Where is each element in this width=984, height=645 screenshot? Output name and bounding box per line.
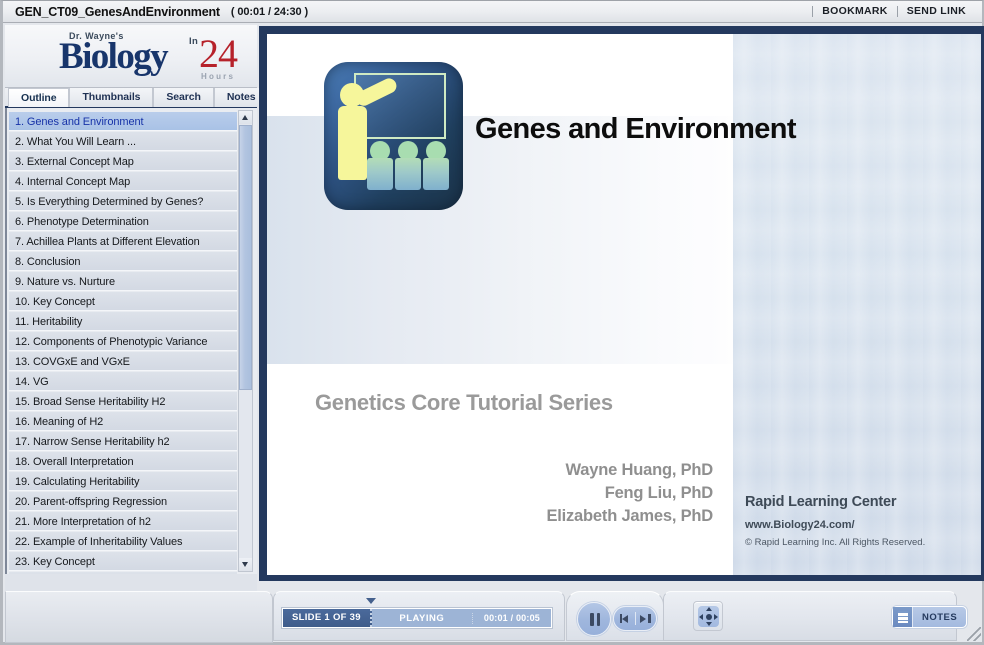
- status-panel: SLIDE 1 OF 39 PLAYING 00:01 / 00:05: [273, 591, 565, 641]
- teacher-head-shape: [340, 83, 364, 107]
- outline-item[interactable]: 9. Nature vs. Nurture: [9, 271, 237, 291]
- organization-block: Rapid Learning Center www.Biology24.com/…: [745, 494, 975, 548]
- outline-item[interactable]: 3. External Concept Map: [9, 151, 237, 171]
- logo-inner: Dr. Wayne's Biology In 24 Hours: [51, 27, 256, 87]
- outline-item[interactable]: 11. Heritability: [9, 311, 237, 331]
- playback-state: PLAYING: [372, 613, 473, 624]
- outline-item[interactable]: 6. Phenotype Determination: [9, 211, 237, 231]
- fullscreen-button[interactable]: [693, 601, 723, 631]
- sidebar-footer-panel: [5, 591, 273, 643]
- outline-item[interactable]: 1. Genes and Environment: [9, 111, 237, 131]
- fullscreen-icon: [698, 606, 719, 627]
- organization-url[interactable]: www.Biology24.com/: [745, 519, 975, 531]
- step-forward-icon[interactable]: [636, 612, 652, 625]
- slide-canvas[interactable]: Genes and Environment Genetics Core Tuto…: [267, 34, 981, 575]
- outline-item[interactable]: 23. Key Concept: [9, 551, 237, 571]
- transport-controls: [566, 591, 664, 641]
- outline-item[interactable]: 12. Components of Phenotypic Variance: [9, 331, 237, 351]
- outline-list: 1. Genes and Environment2. What You Will…: [9, 111, 237, 574]
- tab-thumbnails[interactable]: Thumbnails: [69, 88, 153, 107]
- logo-hours: Hours: [201, 72, 235, 81]
- teacher-body-shape: [338, 106, 367, 180]
- sidebar-tabs: Outline Thumbnails Search Notes: [5, 88, 257, 108]
- outline-scrollbar[interactable]: [238, 110, 253, 572]
- scrollbar-thumb[interactable]: [239, 125, 252, 390]
- copyright-text: © Rapid Learning Inc. All Rights Reserve…: [745, 537, 975, 548]
- author-line: Elizabeth James, PhD: [407, 505, 713, 528]
- author-line: Wayne Huang, PhD: [407, 459, 713, 482]
- pause-button[interactable]: [577, 602, 611, 636]
- teacher-at-blackboard-icon: [324, 62, 463, 210]
- notes-icon: [893, 607, 913, 627]
- page-title: GEN_CT09_GenesAndEnvironment: [15, 5, 220, 19]
- slide-counter: SLIDE 1 OF 39: [283, 609, 372, 627]
- window-title-bar: GEN_CT09_GenesAndEnvironment ( 00:01 / 2…: [3, 1, 982, 23]
- outline-item[interactable]: 18. Overall Interpretation: [9, 451, 237, 471]
- outline-item[interactable]: 15. Broad Sense Heritability H2: [9, 391, 237, 411]
- progress-bar[interactable]: SLIDE 1 OF 39 PLAYING 00:01 / 00:05: [282, 608, 552, 628]
- outline-item[interactable]: 2. What You Will Learn ...: [9, 131, 237, 151]
- slide-time: 00:01 / 00:05: [473, 613, 551, 623]
- student-body-3: [423, 158, 449, 190]
- send-link-button[interactable]: SEND LINK: [897, 6, 975, 17]
- logo-brand: Biology: [59, 38, 167, 76]
- resize-grip[interactable]: [967, 627, 981, 641]
- outline-item[interactable]: 8. Conclusion: [9, 251, 237, 271]
- outline-item[interactable]: 10. Key Concept: [9, 291, 237, 311]
- outline-item[interactable]: 22. Example of Inheritability Values: [9, 531, 237, 551]
- slide-viewport: Genes and Environment Genetics Core Tuto…: [259, 26, 984, 581]
- outline-item[interactable]: 21. More Interpretation of h2: [9, 511, 237, 531]
- outline-item[interactable]: 7. Achillea Plants at Different Elevatio…: [9, 231, 237, 251]
- author-line: Feng Liu, PhD: [407, 482, 713, 505]
- student-body-1: [367, 158, 393, 190]
- total-timecode: ( 00:01 / 24:30 ): [231, 6, 308, 18]
- logo-in: In: [189, 36, 198, 47]
- outline-item[interactable]: 4. Internal Concept Map: [9, 171, 237, 191]
- outline-item[interactable]: 20. Parent-offspring Regression: [9, 491, 237, 511]
- slide-series-subtitle: Genetics Core Tutorial Series: [315, 390, 613, 416]
- scroll-up-icon[interactable]: [239, 111, 252, 124]
- slide-authors: Wayne Huang, PhD Feng Liu, PhD Elizabeth…: [407, 459, 713, 528]
- sidebar: Dr. Wayne's Biology In 24 Hours Outline …: [5, 25, 257, 591]
- player-window: GEN_CT09_GenesAndEnvironment ( 00:01 / 2…: [0, 0, 984, 645]
- outline-item[interactable]: 17. Narrow Sense Heritability h2: [9, 431, 237, 451]
- tab-outline[interactable]: Outline: [8, 88, 69, 107]
- outline-item[interactable]: 24. Question: [9, 571, 237, 574]
- pause-icon: [589, 613, 601, 626]
- logo-number: 24: [199, 33, 237, 75]
- notes-button[interactable]: NOTES: [892, 606, 967, 628]
- organization-name: Rapid Learning Center: [745, 494, 975, 510]
- tab-search[interactable]: Search: [153, 88, 213, 107]
- outline-item[interactable]: 16. Meaning of H2: [9, 411, 237, 431]
- bookmark-button[interactable]: BOOKMARK: [812, 6, 896, 17]
- blackboard-shape: [354, 73, 446, 139]
- outline-item[interactable]: 14. VG: [9, 371, 237, 391]
- outline-item[interactable]: 13. COVGxE and VGxE: [9, 351, 237, 371]
- outline-item[interactable]: 5. Is Everything Determined by Genes?: [9, 191, 237, 211]
- scroll-down-icon[interactable]: [239, 558, 252, 571]
- outline-item[interactable]: 19. Calculating Heritability: [9, 471, 237, 491]
- slide-title: Genes and Environment: [475, 113, 796, 146]
- brand-logo: Dr. Wayne's Biology In 24 Hours: [5, 25, 257, 88]
- outline-panel: 1. Genes and Environment2. What You Will…: [5, 108, 257, 574]
- progress-marker-icon: [366, 598, 376, 604]
- notes-button-label: NOTES: [913, 612, 966, 623]
- step-back-icon[interactable]: [619, 612, 635, 625]
- step-controls: [613, 606, 657, 631]
- student-body-2: [395, 158, 421, 190]
- player-controls-bar: SLIDE 1 OF 39 PLAYING 00:01 / 00:05: [273, 591, 984, 643]
